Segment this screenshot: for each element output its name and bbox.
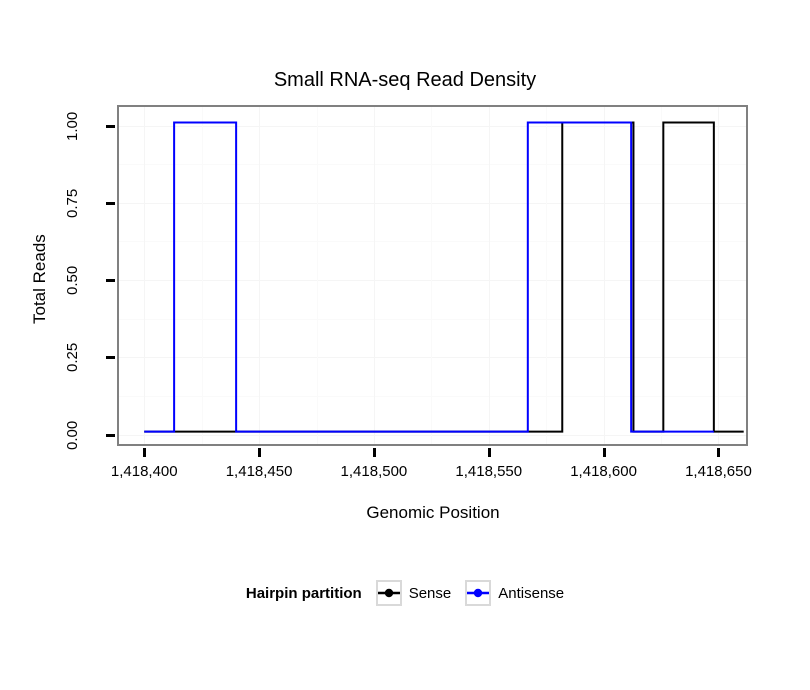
y-tick-mark [106, 356, 115, 359]
legend-key-sense-icon [376, 580, 402, 606]
x-tick-label: 1,418,500 [314, 462, 434, 482]
x-tick-label: 1,418,650 [658, 462, 778, 482]
y-tick-label: 0.00 [62, 406, 84, 464]
x-tick-label: 1,418,550 [429, 462, 549, 482]
x-tick-label: 1,418,600 [544, 462, 664, 482]
x-tick-mark [603, 448, 606, 457]
y-tick-mark [106, 279, 115, 282]
chart-figure: Small RNA-seq Read Density Total Reads G… [0, 0, 810, 690]
y-axis-title: Total Reads [28, 194, 52, 364]
legend-label: Antisense [498, 585, 564, 602]
legend-title: Hairpin partition [246, 585, 362, 602]
chart-title: Small RNA-seq Read Density [0, 68, 810, 92]
y-tick-mark [106, 434, 115, 437]
legend-entry-antisense[interactable]: Antisense [465, 580, 564, 606]
y-tick-mark [106, 125, 115, 128]
legend-entry-sense[interactable]: Sense [376, 580, 452, 606]
x-tick-mark [143, 448, 146, 457]
y-tick-label: 0.50 [62, 251, 84, 309]
series-line-antisense [144, 122, 714, 431]
series-line-sense [144, 122, 743, 431]
legend-key-antisense-icon [465, 580, 491, 606]
plot-inner [119, 107, 746, 444]
x-tick-mark [373, 448, 376, 457]
x-tick-label: 1,418,400 [84, 462, 204, 482]
y-tick-label: 0.25 [62, 328, 84, 386]
plot-panel [117, 105, 748, 446]
data-series-layer [119, 107, 746, 444]
x-tick-mark [258, 448, 261, 457]
x-tick-label: 1,418,450 [199, 462, 319, 482]
y-tick-mark [106, 202, 115, 205]
y-tick-label: 1.00 [62, 97, 84, 155]
x-tick-mark [717, 448, 720, 457]
x-axis-title: Genomic Position [117, 502, 749, 524]
legend-label: Sense [409, 585, 452, 602]
chart-legend: Hairpin partition SenseAntisense [0, 580, 810, 606]
y-tick-label: 0.75 [62, 174, 84, 232]
legend-entries: SenseAntisense [376, 580, 564, 606]
x-tick-mark [488, 448, 491, 457]
